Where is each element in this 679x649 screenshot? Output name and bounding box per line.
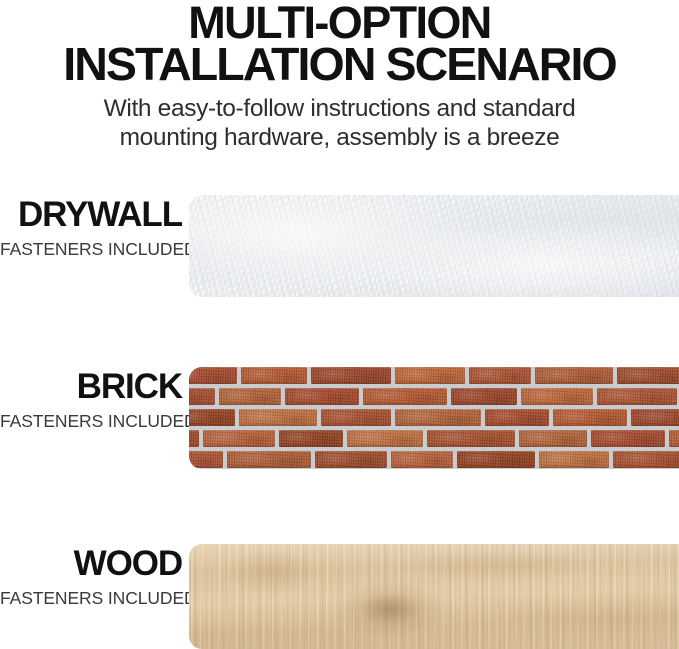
brick-fasteners-note: FASTENERS INCLUDED: [0, 404, 182, 431]
brick-unit: [631, 409, 679, 426]
brick-row: [189, 430, 679, 447]
brick-unit: [535, 367, 613, 384]
brick-unit: [279, 430, 343, 447]
subtitle-line-1: With easy-to-follow instructions and sta…: [0, 95, 679, 124]
brick-unit: [395, 409, 481, 426]
brick-unit: [597, 388, 677, 405]
brick-unit: [189, 451, 223, 468]
brick-unit: [617, 367, 679, 384]
brick-unit: [239, 409, 317, 426]
page-title: MULTI-OPTION INSTALLATION SCENARIO: [0, 0, 679, 86]
brick-unit: [521, 388, 593, 405]
subtitle-line-2: mounting hardware, assembly is a breeze: [0, 124, 679, 153]
brick-unit: [451, 388, 517, 405]
brick-unit: [363, 388, 447, 405]
wood-fasteners-note: FASTENERS INCLUDED: [0, 581, 182, 608]
brick-unit: [613, 451, 679, 468]
page-subtitle: With easy-to-follow instructions and sta…: [0, 86, 679, 152]
brick-unit: [189, 388, 215, 405]
brick-unit: [485, 409, 549, 426]
brick-wall-rows: [189, 367, 679, 469]
brick-unit: [311, 367, 391, 384]
brick-unit: [669, 430, 679, 447]
brick-unit: [203, 430, 275, 447]
brick-unit: [519, 430, 587, 447]
drywall-fasteners-note: FASTENERS INCLUDED: [0, 232, 182, 259]
infographic-root: MULTI-OPTION INSTALLATION SCENARIO With …: [0, 0, 679, 649]
brick-unit: [189, 430, 199, 447]
title-line-2: INSTALLATION SCENARIO: [0, 43, 679, 86]
header: MULTI-OPTION INSTALLATION SCENARIO With …: [0, 0, 679, 152]
brick-material-name: BRICK: [0, 367, 182, 404]
brick-row: [189, 388, 679, 405]
brick-unit: [391, 451, 453, 468]
brick-unit: [469, 367, 531, 384]
brick-unit: [241, 367, 307, 384]
brick-unit: [189, 367, 237, 384]
brick-unit: [315, 451, 387, 468]
section-drywall: DRYWALL FASTENERS INCLUDED: [0, 195, 679, 297]
brick-unit: [553, 409, 627, 426]
brick-unit: [321, 409, 391, 426]
drywall-texture-panel: [189, 195, 679, 297]
brick-unit: [427, 430, 515, 447]
brick-row: [189, 409, 679, 426]
brick-row: [189, 367, 679, 384]
title-line-1: MULTI-OPTION: [0, 2, 679, 43]
brick-row: [189, 451, 679, 468]
wood-material-name: WOOD: [0, 544, 182, 581]
brick-unit: [347, 430, 423, 447]
brick-label-column: BRICK FASTENERS INCLUDED: [0, 367, 182, 431]
brick-unit: [219, 388, 281, 405]
brick-unit: [189, 409, 235, 426]
brick-unit: [227, 451, 311, 468]
brick-texture-panel: [189, 367, 679, 469]
brick-unit: [285, 388, 359, 405]
brick-unit: [395, 367, 465, 384]
drywall-label-column: DRYWALL FASTENERS INCLUDED: [0, 195, 182, 259]
brick-unit: [457, 451, 535, 468]
brick-unit: [539, 451, 609, 468]
wood-texture-panel: [189, 544, 679, 649]
section-wood: WOOD FASTENERS INCLUDED: [0, 544, 679, 649]
drywall-material-name: DRYWALL: [0, 195, 182, 232]
brick-unit: [591, 430, 665, 447]
wood-label-column: WOOD FASTENERS INCLUDED: [0, 544, 182, 608]
section-brick: BRICK FASTENERS INCLUDED: [0, 367, 679, 469]
